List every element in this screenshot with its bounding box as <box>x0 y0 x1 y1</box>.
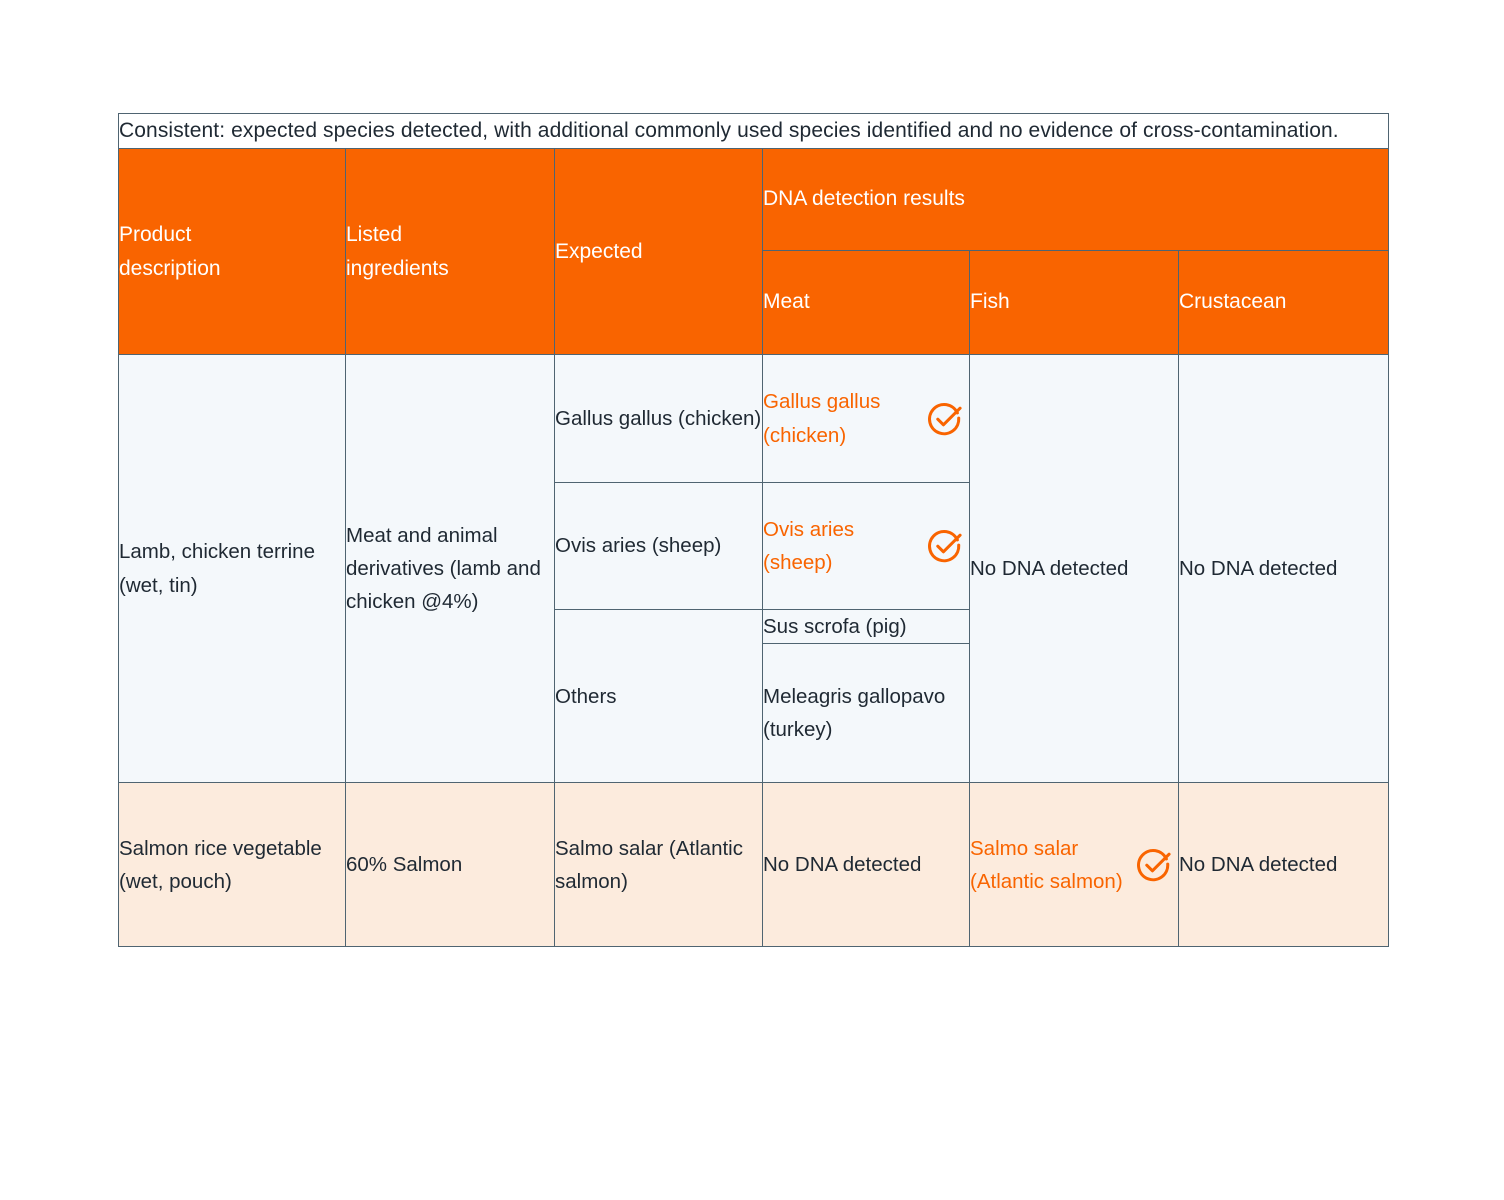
cell-meat-gallus: Gallus gallus (chicken) <box>763 355 970 483</box>
dna-results-table: Consistent: expected species detected, w… <box>118 113 1389 947</box>
header-listed-ingredients-line2: ingredients <box>346 252 554 286</box>
header-listed-ingredients: Listed ingredients <box>346 149 555 355</box>
cell-expected-ovis: Ovis aries (sheep) <box>555 483 763 610</box>
cell-meat-ovis: Ovis aries (sheep) <box>763 483 970 610</box>
header-listed-ingredients-line1: Listed <box>346 218 554 252</box>
cell-fish-result: Salmo salar (Atlantic salmon) <box>970 783 1179 947</box>
header-product-description-line2: description <box>119 252 345 286</box>
cell-expected-others: Others <box>555 610 763 783</box>
header-dna-detection-results: DNA detection results <box>763 149 1389 250</box>
cell-fish-result: No DNA detected <box>970 355 1179 783</box>
header-fish: Fish <box>970 250 1179 355</box>
cell-fish-result-label: Salmo salar (Atlantic salmon) <box>970 832 1126 898</box>
cell-meat-result: No DNA detected <box>763 783 970 947</box>
table-row: Lamb, chicken terrine (wet, tin) Meat an… <box>119 355 1389 483</box>
header-expected: Expected <box>555 149 763 355</box>
check-circle-icon <box>927 528 963 564</box>
cell-meat-meleagris: Meleagris gallopavo (turkey) <box>763 644 970 783</box>
cell-meat-ovis-label: Ovis aries (sheep) <box>763 513 917 579</box>
header-product-description: Product description <box>119 149 346 355</box>
consistency-note-cell: Consistent: expected species detected, w… <box>119 114 1389 149</box>
header-product-description-line1: Product <box>119 218 345 252</box>
header-crustacean: Crustacean <box>1179 250 1389 355</box>
check-circle-icon <box>1136 847 1172 883</box>
cell-expected-gallus: Gallus gallus (chicken) <box>555 355 763 483</box>
header-meat: Meat <box>763 250 970 355</box>
cell-expected-salmo: Salmo salar (Atlantic salmon) <box>555 783 763 947</box>
note-row: Consistent: expected species detected, w… <box>119 114 1389 149</box>
check-circle-icon <box>927 401 963 437</box>
cell-crustacean-result: No DNA detected <box>1179 355 1389 783</box>
cell-product-description: Lamb, chicken terrine (wet, tin) <box>119 355 346 783</box>
cell-listed-ingredients: Meat and animal derivatives (lamb and ch… <box>346 355 555 783</box>
dna-results-table-wrapper: Consistent: expected species detected, w… <box>118 113 1388 947</box>
page-root: Consistent: expected species detected, w… <box>0 0 1504 1200</box>
cell-crustacean-result: No DNA detected <box>1179 783 1389 947</box>
cell-meat-gallus-label: Gallus gallus (chicken) <box>763 385 917 451</box>
consistency-note-text: Consistent: expected species detected, w… <box>119 114 1388 148</box>
table-row: Salmon rice vegetable (wet, pouch) 60% S… <box>119 783 1389 947</box>
header-row-primary: Product description Listed ingredients E… <box>119 149 1389 250</box>
cell-product-description: Salmon rice vegetable (wet, pouch) <box>119 783 346 947</box>
cell-listed-ingredients: 60% Salmon <box>346 783 555 947</box>
cell-meat-sus-scrofa: Sus scrofa (pig) <box>763 610 970 644</box>
